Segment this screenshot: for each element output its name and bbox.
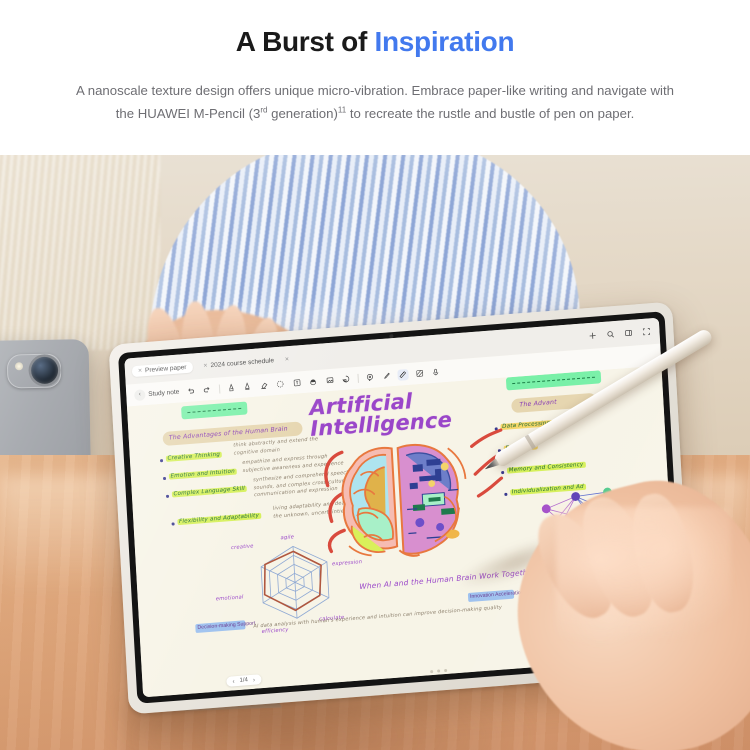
undo-icon[interactable]: [185, 385, 197, 397]
bullet-dot: [160, 459, 163, 462]
close-icon[interactable]: ×: [203, 362, 207, 369]
camera-lens-icon: [31, 357, 58, 384]
lasso-select-tool-icon[interactable]: [275, 378, 287, 390]
document-title: Study note: [148, 388, 179, 397]
bullet-dot: [163, 477, 166, 480]
camera-island: [7, 354, 62, 389]
stylus-ring: [525, 434, 536, 449]
image-insert-tool-icon[interactable]: [324, 374, 336, 386]
eraser-tool-icon[interactable]: [258, 379, 270, 391]
list-item-chip: Memory and Consistency: [506, 462, 585, 474]
page-subtitle: A nanoscale texture design offers unique…: [40, 79, 710, 125]
text-tool-icon[interactable]: [291, 377, 303, 389]
sticker-tool-icon[interactable]: [340, 373, 352, 385]
shape-fill-tool-icon[interactable]: [308, 375, 320, 387]
bullet-dot: [172, 522, 175, 525]
ruler-tool-icon[interactable]: [397, 368, 409, 380]
close-icon[interactable]: ×: [138, 367, 142, 374]
book-view-icon[interactable]: [621, 326, 635, 340]
dashed-underline: [512, 377, 595, 384]
promo-header: A Burst of Inspiration A nanoscale textu…: [0, 0, 750, 155]
extra-tools: [364, 366, 441, 383]
tab-preview-paper[interactable]: × Preview paper: [132, 361, 193, 377]
color-picker-tool-icon[interactable]: [381, 370, 393, 382]
hand-highlight: [556, 507, 731, 657]
highlighter-tool-icon[interactable]: [242, 380, 254, 392]
list-item-chip: Flexibility and Adaptability: [177, 513, 261, 525]
dot: [430, 670, 433, 673]
toolbar-divider: [218, 384, 219, 393]
history-tools: [185, 384, 213, 397]
dot: [437, 669, 440, 672]
subtitle-line-2a: the HUAWEI M-Pencil (3: [116, 106, 261, 121]
prev-page-icon[interactable]: ‹: [232, 678, 235, 685]
list-item-chip: Complex Language Skill: [171, 486, 247, 498]
dot: [444, 669, 447, 672]
background-knit-texture: [0, 155, 160, 350]
headline-plain: A Burst of: [236, 26, 375, 57]
dashed-underline: [187, 408, 241, 413]
document-title-group[interactable]: ‹ Study note: [134, 386, 180, 400]
note-heading: Artificial Intelligence: [309, 389, 453, 441]
page-indicator: 1/4: [239, 677, 248, 684]
tab-2024-course-schedule[interactable]: × 2024 course schedule: [197, 354, 280, 371]
list-item: Flexibility and Adaptability: [171, 513, 261, 526]
annotation-tool-icon[interactable]: [364, 371, 376, 383]
radar-label-agile: agile: [280, 534, 294, 541]
microphone-tool-icon[interactable]: [430, 366, 442, 378]
list-item: Creative Thinking: [160, 452, 222, 463]
bullet-dot: [166, 495, 169, 498]
subtitle-line-2c: to recreate the rustle and bustle of pen…: [346, 106, 634, 121]
pen-tool-icon[interactable]: [225, 382, 237, 394]
redo-icon[interactable]: [201, 384, 213, 396]
page-navigator[interactable]: ‹ 1/4 ›: [226, 674, 261, 687]
subtitle-line-1: A nanoscale texture design offers unique…: [76, 83, 674, 98]
list-item: Memory and Consistency: [501, 462, 586, 474]
headline-accent: Inspiration: [374, 26, 514, 57]
list-item-chip: Creative Thinking: [165, 452, 222, 462]
add-tab-icon[interactable]: [585, 329, 599, 343]
close-icon-extra[interactable]: ×: [285, 356, 289, 363]
next-page-icon[interactable]: ›: [253, 676, 256, 683]
subtitle-line-2b: generation): [267, 106, 337, 121]
grid-paper-tool-icon[interactable]: [414, 367, 426, 379]
product-photo-scene: × Preview paper × 2024 course schedule ×: [0, 155, 750, 750]
home-indicator: [430, 669, 447, 673]
toolbar-divider: [358, 373, 359, 382]
radar-label-expression: expression: [332, 559, 362, 567]
back-icon[interactable]: ‹: [134, 389, 146, 401]
fullscreen-icon[interactable]: [639, 325, 653, 339]
list-item: Emotion and Intuition: [163, 468, 237, 480]
tab-label: Preview paper: [145, 364, 187, 374]
green-highlight-left: [181, 401, 248, 419]
list-item: Complex Language Skill: [166, 486, 247, 498]
list-item-chip: Emotion and Intuition: [168, 468, 237, 479]
page-title: A Burst of Inspiration: [30, 24, 720, 59]
search-icon[interactable]: [603, 327, 617, 341]
tab-label: 2024 course schedule: [210, 357, 274, 369]
footnote-marker: 11: [338, 106, 346, 115]
camera-flash-icon: [15, 362, 23, 370]
